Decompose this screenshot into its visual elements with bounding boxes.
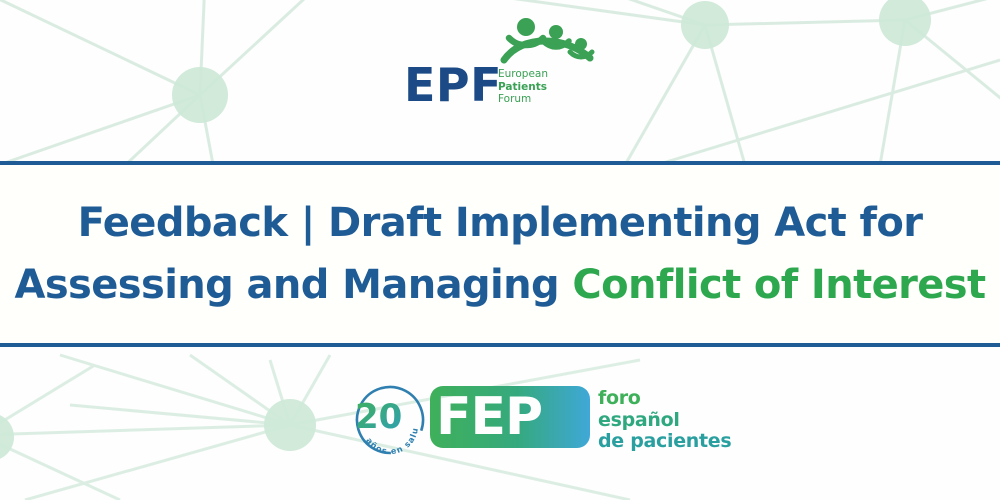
title-line-2-highlight: Conflict of Interest — [572, 262, 985, 308]
fep-logo: 20 años en salud FEP — [352, 380, 682, 460]
footer-zone: 20 años en salud FEP — [0, 347, 1000, 500]
epf-wordmark: EPF — [404, 62, 502, 108]
fep-tagline-line-3: de pacientes — [598, 431, 731, 453]
svg-text:20: 20 — [355, 397, 402, 437]
epf-subtitle: European Patients Forum — [498, 68, 548, 106]
fep-tagline: foro español de pacientes — [598, 388, 731, 453]
title-band: Feedback | Draft Implementing Act for As… — [0, 161, 1000, 347]
fep-tagline-line-2: español — [598, 410, 731, 432]
poster-canvas: EPF European Patients Forum Feedback | D… — [0, 0, 1000, 500]
anniversary-badge-icon: 20 años en salud — [352, 382, 428, 458]
three-people-arc-icon — [500, 14, 596, 66]
epf-subtitle-line-3: Forum — [498, 93, 548, 106]
epf-subtitle-line-2: Patients — [498, 81, 548, 94]
header-zone: EPF European Patients Forum — [0, 0, 1000, 163]
title-line-1: Feedback | Draft Implementing Act for — [78, 192, 923, 254]
fep-tagline-line-1: foro — [598, 388, 731, 410]
fep-wordmark: FEP — [430, 386, 590, 448]
title-line-2: Assessing and Managing Conflict of Inter… — [14, 254, 985, 316]
epf-logo: EPF European Patients Forum — [404, 14, 604, 124]
epf-subtitle-line-1: European — [498, 68, 548, 81]
title-line-2-prefix: Assessing and Managing — [14, 262, 572, 308]
